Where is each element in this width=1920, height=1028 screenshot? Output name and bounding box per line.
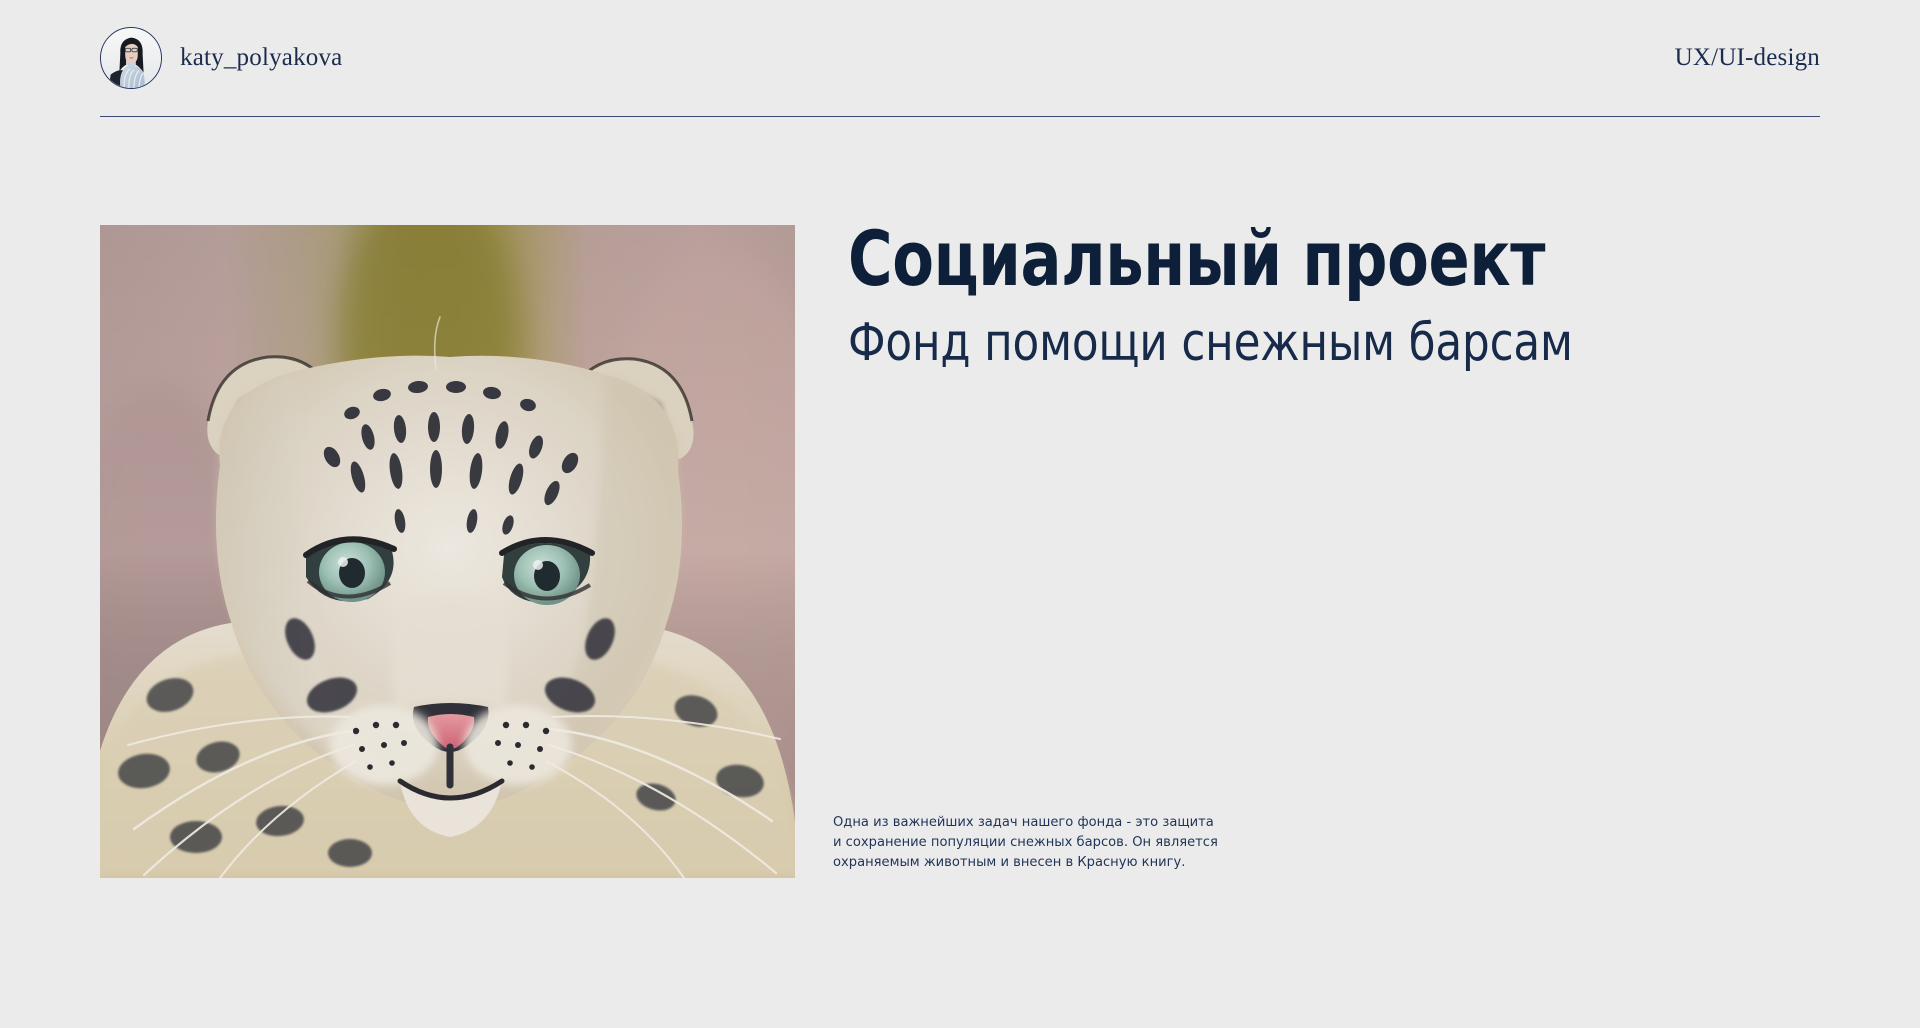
page-subtitle: Фонд помощи снежным барсам — [848, 312, 1688, 374]
snow-leopard-photo — [100, 225, 795, 878]
header-divider — [100, 116, 1820, 117]
role-label: UX/UI-design — [1675, 44, 1820, 72]
user-avatar-photo-icon — [101, 28, 161, 88]
body-line: Одна из важнейших задач нашего фонда - э… — [833, 812, 1250, 832]
snow-leopard-photo-icon — [100, 225, 795, 878]
body-paragraph: Одна из важнейших задач нашего фонда - э… — [833, 812, 1250, 872]
body-line: и сохранение популяции снежных барсов. О… — [833, 832, 1250, 852]
presentation-slide: katy_polyakova UX/UI-design — [0, 0, 1920, 1028]
author-block: katy_polyakova — [100, 27, 342, 89]
username-label: katy_polyakova — [180, 44, 342, 72]
body-line: охраняемым животным и внесен в Красную к… — [833, 852, 1250, 872]
text-content: Социальный проект Фонд помощи снежным ба… — [848, 216, 1848, 374]
avatar — [100, 27, 162, 89]
page-title: Социальный проект — [848, 216, 1648, 302]
slide-header: katy_polyakova UX/UI-design — [100, 18, 1820, 98]
